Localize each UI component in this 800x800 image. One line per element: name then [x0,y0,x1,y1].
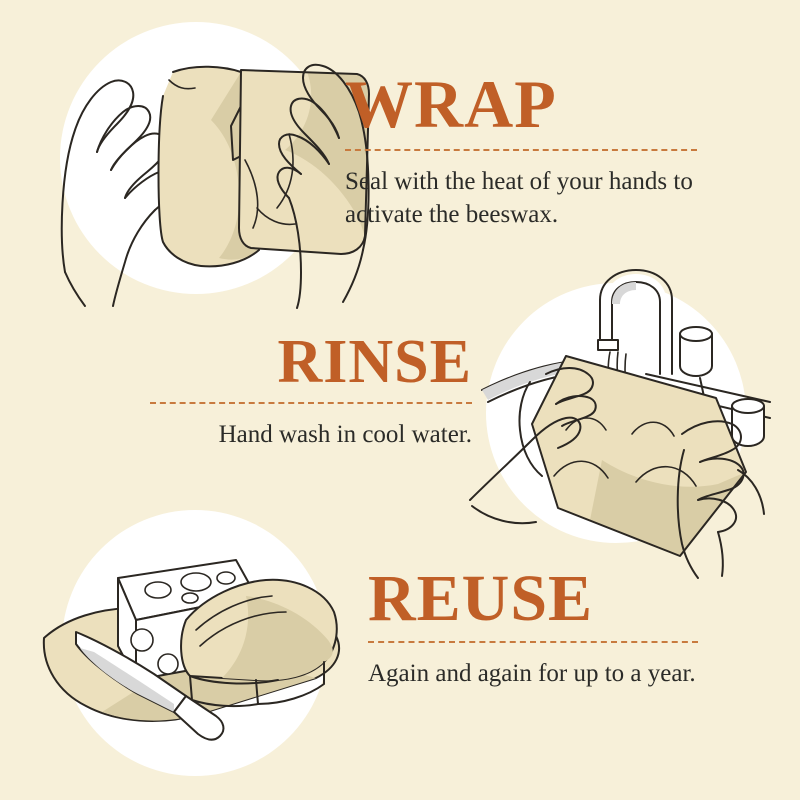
step-body-rinse: Hand wash in cool water. [150,418,472,451]
step-heading-rinse: RINSE [150,333,472,392]
illustration-circle-wrap [60,22,332,294]
text-block-reuse: REUSE Again and again for up to a year. [368,568,698,690]
step-body-wrap: Seal with the heat of your hands to acti… [345,165,697,232]
text-block-rinse: RINSE Hand wash in cool water. [150,333,472,451]
step-heading-reuse: REUSE [368,568,698,631]
divider-wrap [345,149,697,151]
step-heading-wrap: WRAP [345,72,697,137]
divider-reuse [368,641,698,643]
illustration-circle-reuse [62,510,328,776]
divider-rinse [150,402,472,404]
beeswax-wrap-instructions-poster: WRAP Seal with the heat of your hands to… [0,0,800,800]
text-block-wrap: WRAP Seal with the heat of your hands to… [345,72,697,231]
illustration-circle-rinse [486,283,746,543]
step-body-reuse: Again and again for up to a year. [368,657,698,690]
